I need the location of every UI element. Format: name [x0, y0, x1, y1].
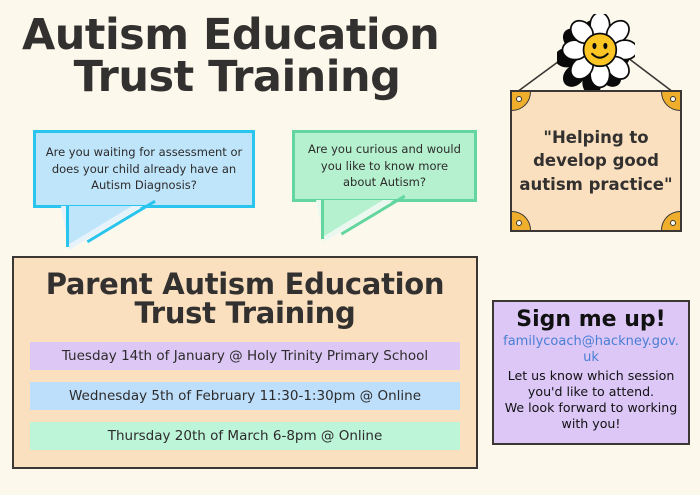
speech-bubble-tail	[321, 200, 383, 238]
sign-corner-hole	[516, 96, 522, 102]
page-title-line-1: Autism Education	[22, 14, 492, 56]
session-row: Thursday 20th of March 6-8pm @ Online	[30, 422, 460, 450]
session-row: Tuesday 14th of January @ Holy Trinity P…	[30, 342, 460, 370]
speech-bubble-assessment-text: Are you waiting for assessment or does y…	[33, 130, 255, 208]
signup-body-text: Let us know which session you'd like to …	[501, 368, 681, 432]
page-title-line-2: Trust Training	[22, 56, 492, 98]
signup-heading: Sign me up!	[501, 308, 681, 332]
sign-line-2: develop good	[533, 149, 659, 172]
sign-corner-hole	[670, 220, 676, 226]
event-heading-line-2: Trust Training	[14, 299, 476, 328]
sign-line-3: autism practice"	[519, 173, 672, 196]
signup-body-line-3: We look forward to working	[501, 400, 681, 416]
signup-panel: Sign me up! familycoach@hackney.gov.uk L…	[492, 300, 690, 445]
event-heading-line-1: Parent Autism Education	[14, 270, 476, 299]
speech-bubble-tail-edge-vertical	[66, 206, 69, 247]
event-panel: Parent Autism Education Trust Training T…	[12, 256, 478, 469]
session-list: Tuesday 14th of January @ Holy Trinity P…	[14, 342, 476, 450]
sign-corner-hole	[516, 220, 522, 226]
smiley-flower-icon	[557, 14, 635, 92]
speech-bubble-curious: Are you curious and would you like to kn…	[292, 130, 477, 202]
session-row: Wednesday 5th of February 11:30-1:30pm @…	[30, 382, 460, 410]
signup-body-line-2: you'd like to attend.	[501, 384, 681, 400]
signup-email-link[interactable]: familycoach@hackney.gov.uk	[501, 334, 681, 367]
page-title: Autism Education Trust Training	[22, 14, 492, 98]
sign-board: "Helping to develop good autism practice…	[510, 90, 682, 232]
sign-corner-hole	[670, 96, 676, 102]
sign-board-text: "Helping to develop good autism practice…	[512, 92, 680, 230]
event-panel-heading: Parent Autism Education Trust Training	[14, 270, 476, 328]
signup-body-line-1: Let us know which session	[501, 368, 681, 384]
speech-bubble-assessment: Are you waiting for assessment or does y…	[33, 130, 255, 208]
sign-line-1: "Helping to	[543, 126, 648, 149]
speech-bubble-curious-text: Are you curious and would you like to kn…	[292, 130, 477, 202]
signup-body-line-4: with you!	[501, 416, 681, 432]
hanging-sign: "Helping to develop good autism practice…	[495, 12, 695, 247]
speech-bubble-tail	[66, 206, 132, 246]
speech-bubble-tail-edge-vertical	[321, 200, 324, 239]
